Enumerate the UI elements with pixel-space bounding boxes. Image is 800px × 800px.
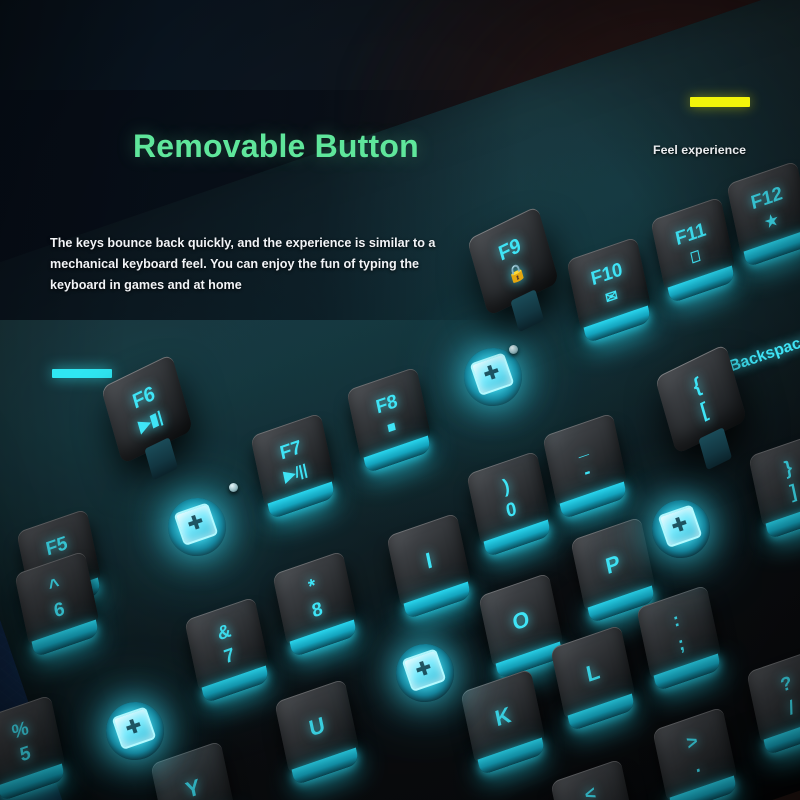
keycap-secondary-legend: .	[693, 756, 702, 777]
keycap-secondary-legend: ;	[676, 634, 686, 656]
keycap-function-icon: ⎕	[690, 248, 702, 266]
switch-housing	[401, 648, 446, 692]
keycap-u[interactable]: U	[274, 678, 359, 775]
keycap-secondary-legend: 8	[310, 599, 324, 622]
switch-cross-stem-icon	[124, 717, 142, 735]
keycap-f5[interactable]: F5▶▮	[16, 508, 101, 605]
keycap-primary-legend: P	[604, 551, 623, 579]
keycap-function-icon: 🔒	[505, 261, 527, 286]
keycap-primary-legend: F9	[496, 235, 523, 266]
switch-cross-stem-icon	[186, 513, 204, 531]
keycap-secondary-legend: [	[699, 400, 711, 424]
blue-glow-haze	[0, 330, 460, 800]
keycap-ast8[interactable]: *8	[272, 550, 357, 647]
keycap-f12[interactable]: F12★	[726, 160, 800, 257]
keycap-primary-legend: F8	[374, 391, 399, 418]
keycap-qm[interactable]: ?/	[746, 648, 800, 745]
keycap-y[interactable]: Y	[150, 740, 235, 800]
keycap-function-icon: ★	[764, 211, 780, 231]
keycap-primary-legend: F7	[278, 437, 303, 464]
keycap-primary-legend: O	[510, 607, 531, 635]
keycap-primary-legend: F6	[130, 383, 157, 414]
switch-housing	[111, 706, 156, 750]
product-banner-stage: F5▶▮F6▶▮|F7▶/||F8■F9🔒F10✉F11⎕F12★%5^6&7*…	[0, 0, 800, 800]
vignette-overlay	[0, 0, 800, 800]
keycap-primary-legend: >	[685, 732, 700, 755]
keycap-o[interactable]: O	[478, 572, 563, 669]
switch-cross-stem-icon	[414, 659, 432, 677]
keycap-primary-legend: }	[783, 458, 794, 480]
keycap-stem	[698, 427, 732, 470]
loose-nub-2	[509, 345, 518, 354]
switch-center[interactable]	[388, 636, 462, 710]
switch-cross-stem-icon	[482, 363, 500, 381]
keycap-f9[interactable]: F9🔒	[467, 206, 559, 317]
keyboard-illustration: F5▶▮F6▶▮|F7▶/||F8■F9🔒F10✉F11⎕F12★%5^6&7*…	[0, 0, 800, 800]
keycap-secondary-legend: 0	[504, 499, 518, 522]
switch-left-low[interactable]	[98, 694, 172, 768]
keycap-p[interactable]: P	[570, 516, 655, 613]
keycap-function-icon: ▶/||	[283, 462, 309, 485]
keycap-function-icon: ▶▮|	[137, 408, 165, 435]
keycap-primary-legend: )	[501, 476, 511, 498]
keycap-primary-legend: Y	[184, 775, 203, 800]
keycap-semi[interactable]: :;	[636, 584, 721, 681]
keycap-secondary-legend: 7	[222, 645, 236, 668]
keycap-function-icon: ■	[386, 418, 398, 436]
switch-cross-stem-icon	[670, 515, 688, 533]
switch-housing	[469, 352, 514, 396]
description-text: The keys bounce back quickly, and the ex…	[50, 233, 470, 296]
keycap-gtdot[interactable]: >.	[652, 706, 737, 800]
keycap-secondary-legend: -	[582, 462, 592, 484]
keycap-primary-legend: U	[307, 713, 327, 741]
keycap-secondary-legend: /	[787, 698, 796, 719]
keycap-pct5[interactable]: %5	[0, 694, 66, 791]
keycap-secondary-legend: ]	[788, 482, 798, 504]
keycap-primary-legend: :	[671, 610, 681, 632]
keycap-stem	[144, 437, 178, 480]
keycap-brl[interactable]: {[	[655, 344, 747, 455]
warm-glow-haze	[340, 0, 800, 400]
switch-housing	[657, 504, 702, 548]
keycap-f10[interactable]: F10✉	[566, 236, 651, 333]
keyboard-base-plate	[0, 0, 800, 800]
cyan-accent-bar	[52, 369, 112, 378]
keycap-primary-legend: F10	[589, 260, 624, 290]
keycap-l[interactable]: L	[550, 624, 635, 721]
keycap-primary-legend: ^	[47, 576, 62, 599]
backspace-key-legend: ← Backspace	[708, 332, 800, 383]
keycap-f11[interactable]: F11⎕	[650, 196, 735, 293]
keyboard-rgb-glow	[0, 0, 800, 800]
keycap-brr[interactable]: }]	[748, 432, 800, 529]
keycap-und[interactable]: _-	[542, 412, 627, 509]
switch-under-f9[interactable]	[456, 340, 530, 414]
keycap-primary-legend: *	[307, 576, 318, 598]
page-title: Removable Button	[133, 128, 419, 165]
keycap-secondary-legend: 6	[52, 599, 66, 622]
keycap-primary-legend: I	[424, 549, 435, 574]
keycap-k[interactable]: K	[460, 668, 545, 765]
keycap-amp7[interactable]: &7	[184, 596, 269, 693]
keycap-secondary-legend: 5	[18, 743, 32, 766]
switch-under-f6[interactable]	[160, 490, 234, 564]
keycap-primary-legend: %	[10, 719, 30, 744]
keycap-function-icon: ▶▮	[51, 558, 73, 580]
keycap-f6[interactable]: F6▶▮|	[101, 354, 193, 465]
keycap-primary-legend: F12	[749, 184, 784, 214]
keycap-primary-legend: F11	[674, 220, 708, 250]
switch-housing	[173, 502, 218, 546]
keycap-cmlt[interactable]: <,	[550, 758, 635, 800]
loose-nub-1	[229, 483, 238, 492]
keycap-primary-legend: {	[691, 375, 704, 399]
keycap-primary-legend: F5	[44, 533, 69, 560]
keycap-primary-legend: ?	[779, 673, 794, 696]
keycap-f7[interactable]: F7▶/||	[250, 412, 335, 509]
yellow-accent-bar	[690, 97, 750, 107]
feel-experience-tag: Feel experience	[653, 143, 746, 157]
keycap-primary-legend: &	[216, 621, 233, 645]
switch-right[interactable]	[644, 492, 718, 566]
keycap-function-icon: ✉	[604, 287, 619, 307]
keycap-primary-legend: _	[575, 438, 589, 461]
keycap-stem	[510, 289, 544, 332]
keycap-primary-legend: K	[493, 703, 513, 731]
keycap-f8[interactable]: F8■	[346, 366, 431, 463]
keycap-primary-legend: L	[584, 659, 602, 686]
keycap-primary-legend: <	[583, 784, 598, 800]
keycap-i[interactable]: I	[386, 512, 471, 609]
keycap-par0[interactable]: )0	[466, 450, 551, 547]
keycap-car6[interactable]: ^6	[14, 550, 99, 647]
